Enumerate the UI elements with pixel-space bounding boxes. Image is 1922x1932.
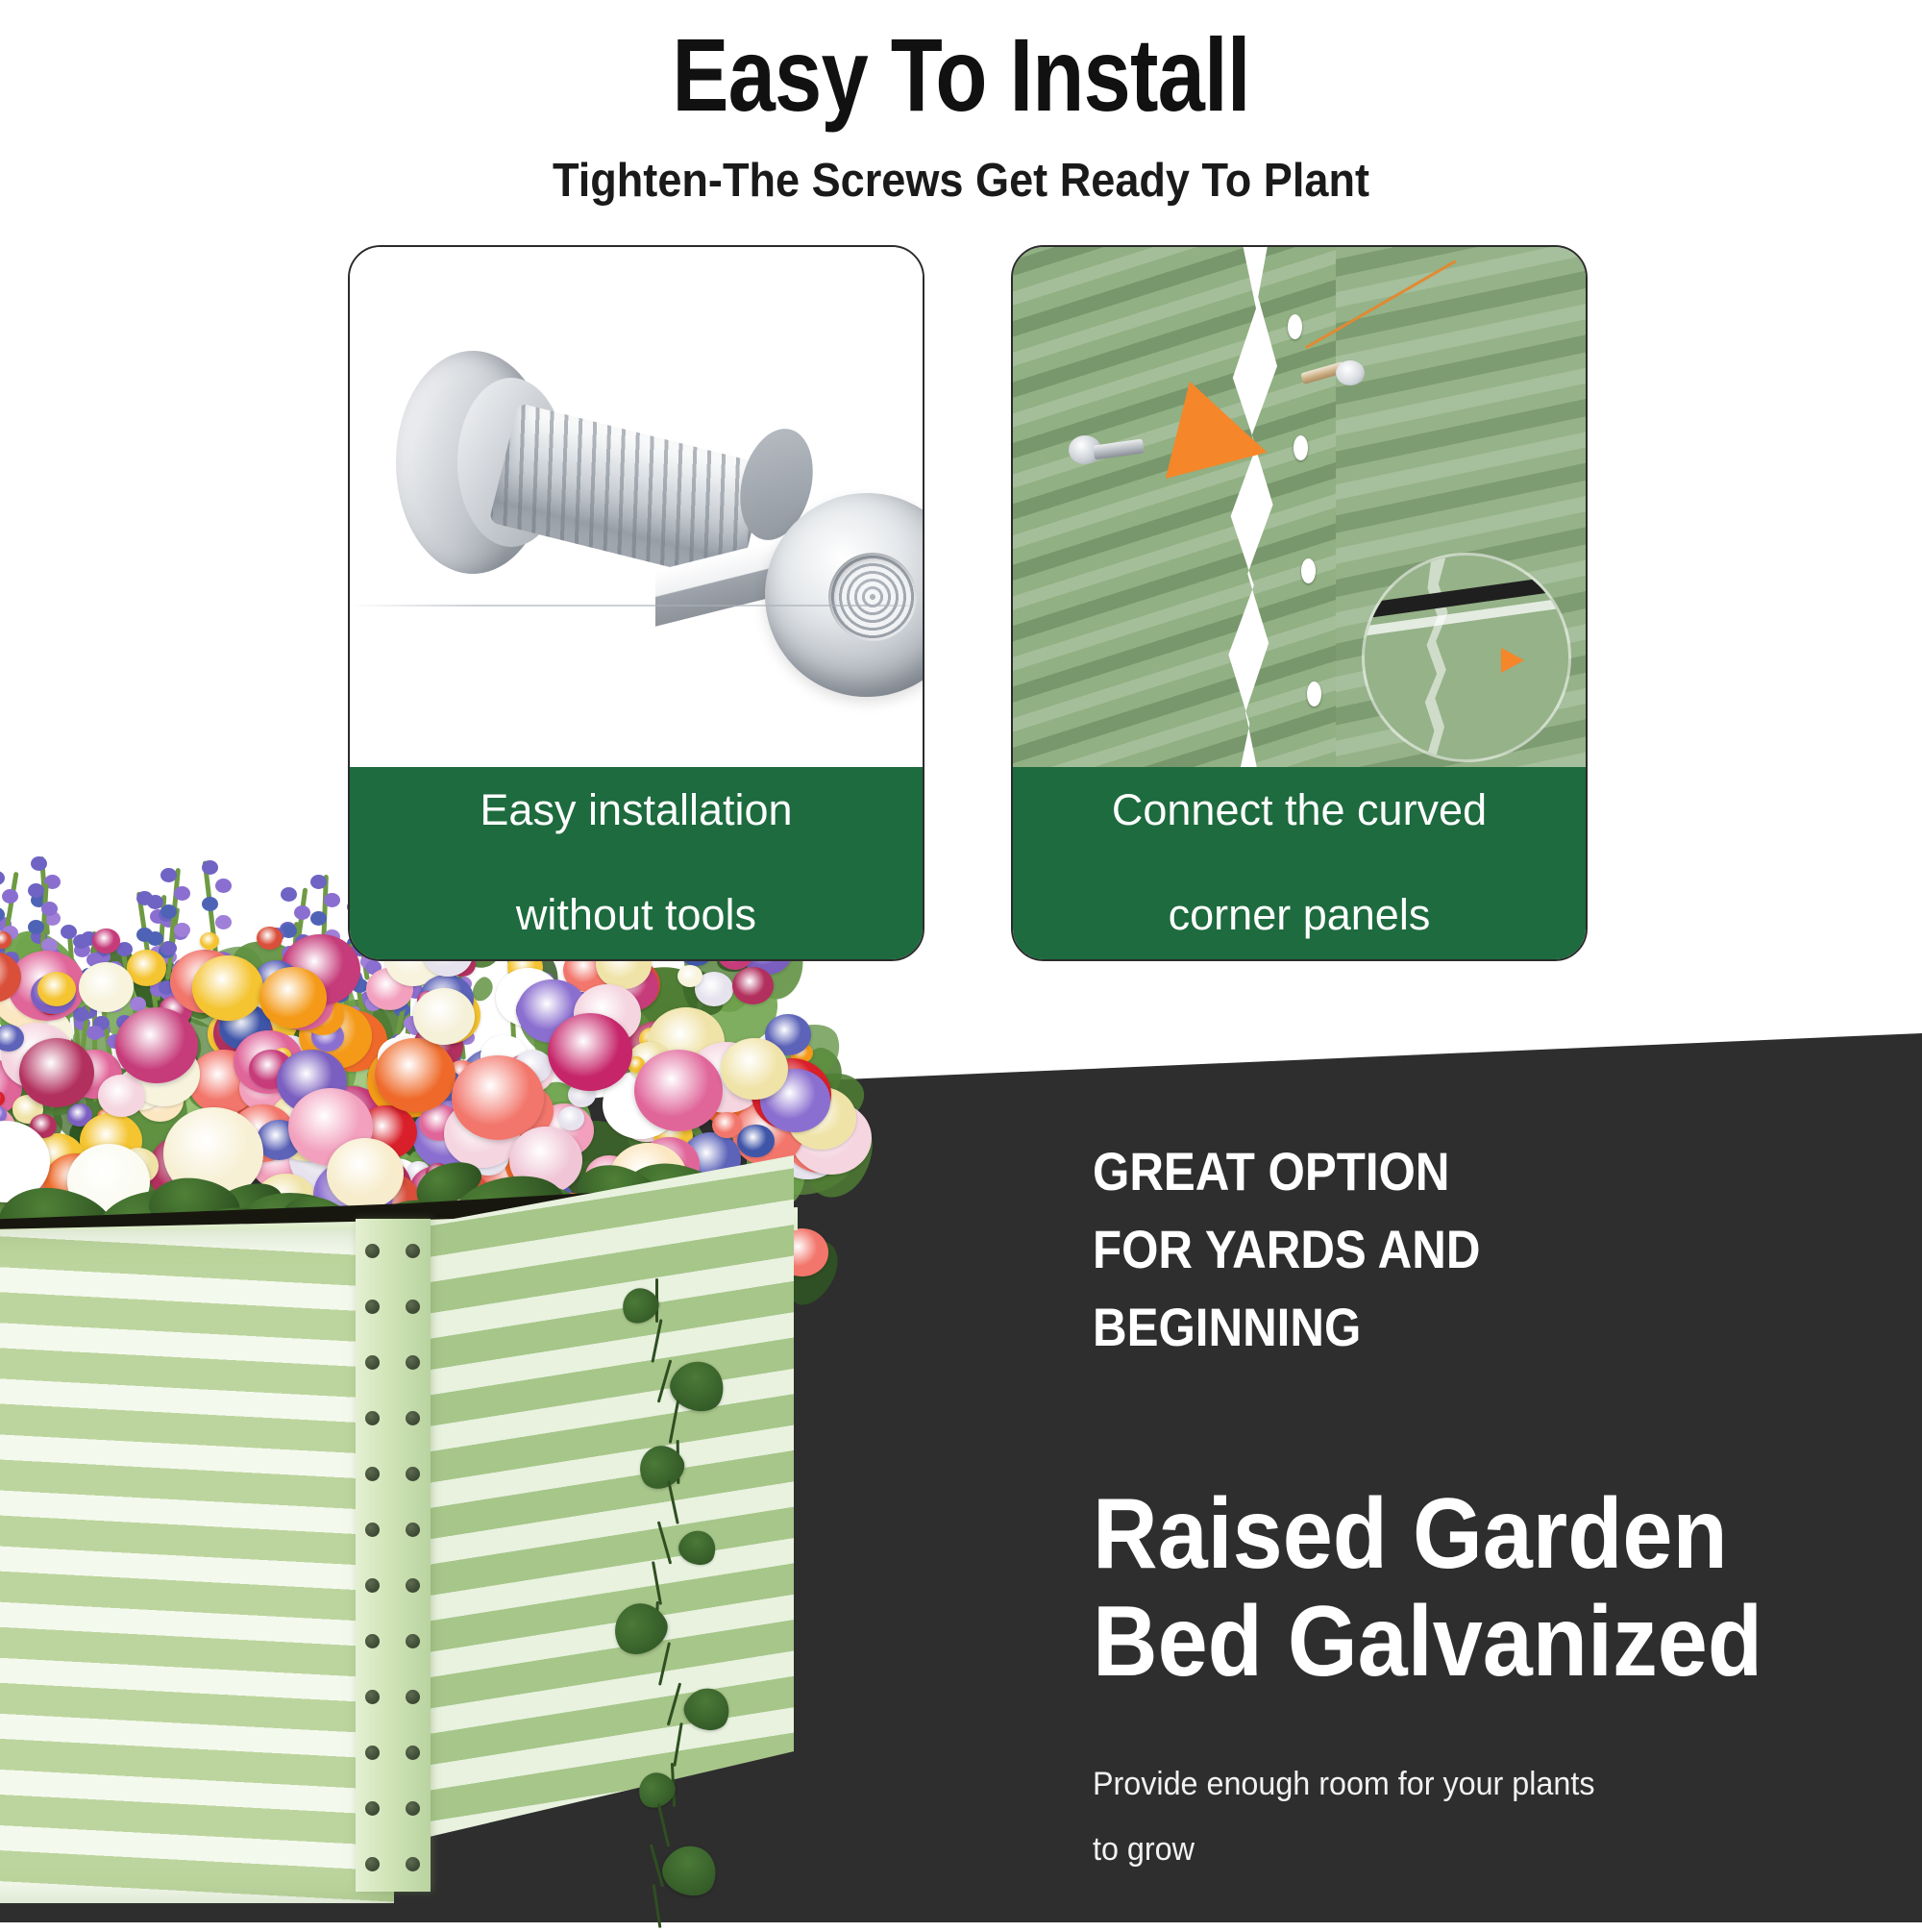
ground-shadow-line bbox=[350, 605, 923, 607]
caption-line-2: without tools bbox=[458, 889, 813, 942]
vine-leaf bbox=[655, 1838, 724, 1903]
headline-line-1: Raised Garden bbox=[1093, 1480, 1811, 1588]
corner-rivet bbox=[365, 1467, 380, 1481]
corner-rivet bbox=[406, 1857, 420, 1871]
feature-flower-bloom bbox=[413, 988, 475, 1045]
feature-flower-bloom bbox=[327, 1138, 404, 1209]
feature-flower-bloom bbox=[452, 1055, 544, 1140]
infographic-canvas: Easy To Install Tighten-The Screws Get R… bbox=[0, 0, 1922, 1922]
feature-flower-bloom bbox=[548, 1013, 632, 1091]
feature-flower-bloom bbox=[192, 955, 263, 1021]
corner-rivet bbox=[406, 1578, 420, 1593]
bed-side-panel bbox=[392, 1155, 794, 1845]
corner-rivet bbox=[406, 1801, 420, 1816]
vine-stem bbox=[653, 1884, 662, 1928]
kicker-line-2: FOR YARDS AND bbox=[1093, 1210, 1794, 1288]
kicker-line-3: BEGINNING bbox=[1093, 1288, 1794, 1366]
bed-front-panel bbox=[0, 1230, 394, 1903]
corner-rivet bbox=[365, 1634, 380, 1648]
screw-shaft bbox=[1093, 438, 1145, 459]
corner-rivet bbox=[406, 1467, 420, 1481]
corner-rivet bbox=[406, 1690, 420, 1704]
kicker-text: GREAT OPTION FOR YARDS AND BEGINNING bbox=[1093, 1132, 1794, 1367]
screw-icon-left bbox=[1069, 435, 1144, 464]
flower-bloom bbox=[79, 962, 134, 1011]
flower-bloom bbox=[737, 1125, 775, 1158]
corner-rivet bbox=[365, 1300, 380, 1314]
panel-hole-4 bbox=[1307, 681, 1321, 706]
feature-card-easy-installation[interactable]: Easy installation without tools bbox=[348, 245, 924, 961]
screw-icon-right bbox=[1301, 360, 1365, 385]
screw-head bbox=[1336, 360, 1365, 385]
vine-stem bbox=[657, 1803, 670, 1846]
bed-corner-post bbox=[356, 1219, 431, 1892]
nut-hole-icon bbox=[828, 553, 917, 641]
corner-rivet bbox=[365, 1801, 380, 1816]
corner-rivet bbox=[406, 1634, 420, 1648]
flower-bloom bbox=[712, 1112, 741, 1138]
corner-rivet bbox=[406, 1300, 420, 1314]
kicker-line-1: GREAT OPTION bbox=[1093, 1132, 1794, 1210]
corner-rivet bbox=[365, 1578, 380, 1593]
flower-bloom bbox=[678, 965, 702, 987]
corner-rivet bbox=[365, 1746, 380, 1760]
feature-flower-bloom bbox=[375, 1038, 456, 1112]
flower-bloom bbox=[732, 967, 774, 1004]
inset-seam bbox=[1417, 556, 1459, 759]
feature-card-connect-panels[interactable]: Connect the curved corner panels bbox=[1011, 245, 1588, 961]
card-media-bolt bbox=[350, 247, 923, 771]
page-title: Easy To Install bbox=[173, 0, 1749, 127]
flower-bloom bbox=[558, 1106, 584, 1129]
card-caption-easy-installation: Easy installation without tools bbox=[350, 767, 923, 959]
raised-garden-bed-image bbox=[0, 1038, 913, 1932]
panel-hole-1 bbox=[1288, 314, 1302, 339]
green-corrugated-panel-illustration bbox=[1013, 247, 1586, 771]
corner-rivet bbox=[406, 1355, 420, 1370]
feature-flower-bloom bbox=[259, 967, 327, 1028]
corner-rivet bbox=[365, 1523, 380, 1537]
corner-rivet bbox=[406, 1523, 420, 1537]
card-media-panels bbox=[1013, 247, 1586, 771]
caption-line-1: Easy installation bbox=[458, 784, 813, 837]
panel-hole-2 bbox=[1294, 435, 1308, 460]
caption-line-2: corner panels bbox=[1091, 889, 1508, 942]
flower-bloom bbox=[98, 1075, 144, 1117]
corner-rivet bbox=[365, 1857, 380, 1871]
corner-rivet bbox=[406, 1746, 420, 1760]
header: Easy To Install Tighten-The Screws Get R… bbox=[0, 0, 1922, 208]
caption-line-1: Connect the curved bbox=[1091, 784, 1508, 837]
feature-card-list: Easy installation without tools bbox=[0, 245, 1922, 961]
bolt-and-nut-illustration bbox=[350, 247, 923, 771]
product-headline: Raised Garden Bed Galvanized bbox=[1093, 1480, 1811, 1697]
feature-flower-bloom bbox=[19, 1038, 94, 1107]
product-blurb: Provide enough room for your plants to g… bbox=[1093, 1751, 1851, 1882]
feature-flower-bloom bbox=[721, 1038, 788, 1100]
product-text-block: GREAT OPTION FOR YARDS AND BEGINNING Rai… bbox=[1093, 1132, 1890, 1882]
page-subtitle: Tighten-The Screws Get Ready To Plant bbox=[77, 154, 1845, 208]
corner-rivet bbox=[406, 1244, 420, 1258]
headline-line-2: Bed Galvanized bbox=[1093, 1588, 1811, 1696]
feature-flower-bloom bbox=[115, 1007, 198, 1083]
panel-hole-3 bbox=[1301, 558, 1316, 583]
corner-rivet bbox=[365, 1690, 380, 1704]
corner-rivet bbox=[365, 1355, 380, 1370]
feature-flower-bloom bbox=[634, 1050, 723, 1131]
inset-arrow-icon bbox=[1501, 648, 1524, 673]
corner-rivet bbox=[406, 1411, 420, 1425]
blurb-line-1: Provide enough room for your plants bbox=[1093, 1751, 1851, 1817]
magnifier-inset-icon bbox=[1365, 556, 1568, 759]
corner-rivet bbox=[365, 1411, 380, 1425]
corner-rivet bbox=[365, 1244, 380, 1258]
blurb-line-2: to grow bbox=[1093, 1817, 1851, 1882]
card-caption-connect-panels: Connect the curved corner panels bbox=[1013, 767, 1586, 959]
